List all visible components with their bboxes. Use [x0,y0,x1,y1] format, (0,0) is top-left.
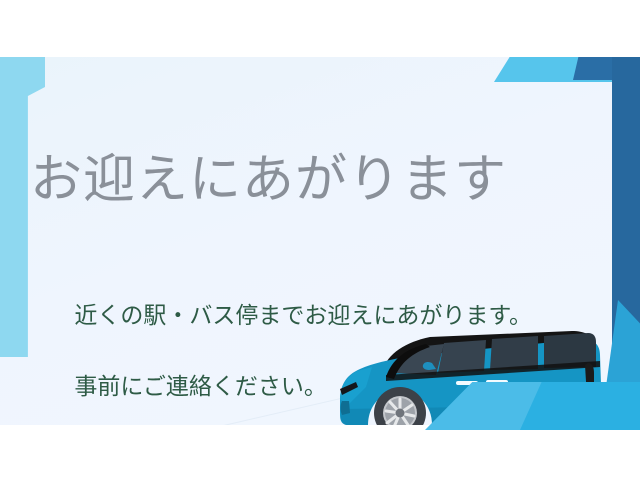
subcopy-line-2: 事前にご連絡ください。 [74,373,327,399]
accent-shape-top-left-notch [0,57,45,69]
pickup-service-banner: お迎えにあがります 近くの駅・バス停までお迎えにあがります。 事前にご連絡くださ… [0,0,640,480]
banner-card: お迎えにあがります 近くの駅・バス停までお迎えにあがります。 事前にご連絡くださ… [0,57,629,425]
page-title: お迎えにあがります [30,153,507,208]
subcopy-line-1: 近くの駅・バス停までお迎えにあがります。 [74,302,532,328]
